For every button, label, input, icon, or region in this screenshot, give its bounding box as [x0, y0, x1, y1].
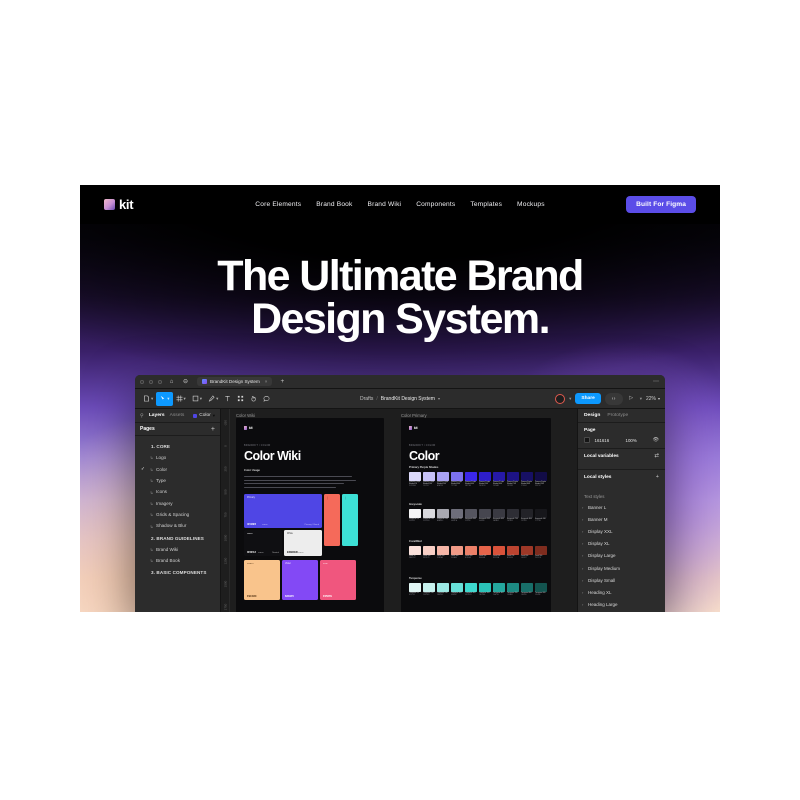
- artboard-logo: kit: [244, 426, 253, 430]
- swatch-hex: A9A2F4: [437, 486, 449, 488]
- swatch-hex: D9523A: [493, 558, 505, 560]
- page-item-type[interactable]: ↳Type: [135, 475, 220, 486]
- color-card-tag: Neutral: [272, 552, 279, 554]
- color-card-violet[interactable]: Violet8349F5: [282, 560, 318, 600]
- swatch-chip: [535, 509, 547, 518]
- color-ramp: Coral 50FBE2DCCoral 100F8CFC5Coral 200F5…: [409, 546, 547, 560]
- text-style-label: Display Large: [588, 553, 616, 558]
- share-button[interactable]: Share: [575, 393, 600, 404]
- swatch-hex: 1D1385: [507, 486, 519, 488]
- text-style-display-small[interactable]: ›Display Small: [578, 574, 665, 586]
- page-item-label: Icons: [156, 489, 167, 494]
- swatch-greyscale-100[interactable]: Greyscale 100D9D9DD: [423, 509, 435, 523]
- pages-group-1-core[interactable]: 1. CORE: [135, 440, 220, 452]
- page-root: kit Core Elements Brand Book Brand Wiki …: [0, 0, 800, 800]
- brand-logo[interactable]: kit: [104, 197, 133, 212]
- swatch-turquoise-300[interactable]: Turquoise 30068E0D7: [451, 583, 463, 597]
- local-variables-header: Local variables ⇄: [584, 454, 659, 460]
- page-fill-row[interactable]: 161616 100% 👁: [584, 437, 659, 443]
- text-style-label: Display XL: [588, 541, 610, 546]
- hero-title: The Ultimate Brand Design System.: [80, 255, 720, 341]
- swatch-chip: [423, 509, 435, 518]
- swatch-chip: [479, 583, 491, 592]
- page-item-label: Shadow & Blur: [156, 523, 186, 528]
- text-style-heading-xl[interactable]: ›Heading XL: [578, 586, 665, 598]
- swatch-chip: [437, 472, 449, 481]
- swatch-coral-red-100[interactable]: Coral 100F8CFC5: [423, 546, 435, 560]
- swatch-chip: [479, 546, 491, 555]
- swatch-coral-red-700[interactable]: Coral 700BC4430: [507, 546, 519, 560]
- move-tool[interactable]: ▾: [156, 392, 172, 406]
- page-item-label: Logo: [156, 455, 166, 460]
- nav-link-brand-wiki[interactable]: Brand Wiki: [368, 201, 402, 208]
- page-fill-hex[interactable]: 161616: [595, 438, 621, 443]
- figma-body: ⚲ Layers Assets Color ▾ Pages + 1. COR: [135, 409, 665, 612]
- avatar[interactable]: [555, 394, 565, 404]
- text-tool[interactable]: [221, 392, 234, 406]
- swatch-hex: C6F1ED: [423, 595, 435, 597]
- swatch-chip: [409, 472, 421, 481]
- color-card-name: Violet: [285, 563, 291, 565]
- close-icon[interactable]: ×: [265, 379, 268, 384]
- ruler-tick: 1000: [224, 534, 228, 543]
- breadcrumb: Drafts / BrandKit Design System ▾: [360, 396, 440, 402]
- page-icon: ↳: [150, 467, 154, 472]
- hand-tool[interactable]: [247, 392, 260, 406]
- swatch-hex: 186F69: [521, 595, 533, 597]
- ramp-label-turquoise: Turquoise: [409, 577, 422, 580]
- swatch-chip: [493, 583, 505, 592]
- swatch-chip: [465, 509, 477, 518]
- adjust-icon[interactable]: ⇄: [654, 454, 659, 460]
- page-item-imagery[interactable]: ↳Imagery: [135, 498, 220, 509]
- text-style-banner-l[interactable]: ›Banner L: [578, 501, 665, 513]
- text-style-label: Display Medium: [588, 566, 620, 571]
- play-icon[interactable]: ▷: [627, 396, 636, 401]
- color-card-hex: F0567E: [323, 595, 332, 598]
- swatch-chip: [479, 472, 491, 481]
- chevron-right-icon: ›: [582, 566, 583, 571]
- page-icon: ↳: [150, 455, 154, 460]
- zoom-level-value: 22%: [646, 396, 656, 402]
- pages-group-3-basic-components[interactable]: 3. BASIC COMPONENTS: [135, 566, 220, 578]
- artboard-eyebrow: BRANDKIT / COLOR: [409, 444, 436, 447]
- page-item-logo[interactable]: ↳Logo: [135, 452, 220, 463]
- swatch-chip: [521, 546, 533, 555]
- swatch-chip: [507, 509, 519, 518]
- swatch-chip: [451, 546, 463, 555]
- page-item-color[interactable]: ✓↳Color: [135, 463, 220, 474]
- swatch-greyscale-400[interactable]: Greyscale 40055555F: [465, 509, 477, 523]
- artboard-logo-text: kit: [249, 426, 253, 430]
- swatch-hex: 2BC3B8: [479, 595, 491, 597]
- swatch-greyscale-700[interactable]: Greyscale 7002E2E35: [507, 509, 519, 523]
- swatch-turquoise-600[interactable]: Turquoise 60024A79D: [493, 583, 505, 597]
- page-icon: ↳: [150, 524, 154, 529]
- swatch-turquoise-50[interactable]: Turquoise 50E2F7F5: [409, 583, 421, 597]
- page-color-chip[interactable]: Color ▾: [193, 413, 215, 419]
- swatch-chip: [493, 546, 505, 555]
- swatch-hex: 7E2C1E: [535, 558, 547, 560]
- text-style-label: Display XXL: [588, 529, 613, 534]
- swatch-turquoise-500[interactable]: Turquoise 5002BC3B8: [479, 583, 491, 597]
- window-minimize-dot[interactable]: [149, 380, 153, 384]
- tab-prototype[interactable]: Prototype: [607, 413, 628, 418]
- local-styles-title: Local styles: [584, 475, 611, 480]
- chevron-right-icon: ›: [582, 602, 583, 607]
- nav-link-templates[interactable]: Templates: [470, 201, 502, 208]
- zoom-level-control[interactable]: 22% ▾: [646, 396, 660, 402]
- swatch-primary-purple-shades-50[interactable]: Primary Purple Shades 50DCD9FA: [409, 472, 421, 488]
- dev-mode-toggle[interactable]: ‹›: [605, 393, 623, 405]
- page-fill-section: Page 161616 100% 👁: [578, 423, 665, 449]
- text-style-display-xxl[interactable]: ›Display XXL: [578, 525, 665, 537]
- chevron-right-icon: ›: [582, 578, 583, 583]
- swatch-primary-purple-shades-700[interactable]: Primary Purple Shades 7001D1385: [507, 472, 519, 488]
- page-item-label: Brand Wiki: [156, 547, 178, 552]
- chevron-right-icon: ›: [582, 541, 583, 546]
- swatch-greyscale-500[interactable]: Greyscale 50046464F: [479, 509, 491, 523]
- local-variables-section[interactable]: Local variables ⇄: [578, 449, 665, 470]
- swatch-primary-purple-shades-900[interactable]: Primary Purple Shades 900120C47: [535, 472, 547, 488]
- page-item-icons[interactable]: ↳Icons: [135, 486, 220, 497]
- swatch-primary-purple-shades-600[interactable]: Primary Purple Shades 6002619A8: [493, 472, 505, 488]
- breadcrumb-file-name[interactable]: BrandKit Design System: [381, 396, 435, 402]
- artboard-color-primary[interactable]: kit BRANDKIT / COLOR Color Primary Purpl…: [401, 418, 551, 612]
- swatch-greyscale-50[interactable]: Greyscale 50F4F4F5: [409, 509, 421, 523]
- swatch-coral-red-900[interactable]: Coral 9007E2C1E: [535, 546, 547, 560]
- minimize-icon[interactable]: ⊖: [181, 379, 190, 385]
- swatch-primary-purple-shades-300[interactable]: Primary Purple Shades 3007C71EF: [451, 472, 463, 488]
- text-style-display-medium[interactable]: ›Display Medium: [578, 562, 665, 574]
- text-style-label: Heading Large: [588, 602, 618, 607]
- chevron-right-icon: ›: [582, 553, 583, 558]
- page-fill-opacity[interactable]: 100%: [626, 438, 648, 443]
- swatch-chip: [437, 583, 449, 592]
- nav-link-core-elements[interactable]: Core Elements: [255, 201, 301, 208]
- page-icon: ↳: [150, 478, 154, 483]
- artboard-logo: kit: [409, 426, 418, 430]
- logo-text: kit: [119, 197, 133, 212]
- swatch-chip: [535, 472, 547, 481]
- swatch-hex: 2E1ECB: [479, 486, 491, 488]
- color-card-name: White: [287, 533, 293, 535]
- artboard-logo-text: kit: [414, 426, 418, 430]
- text-style-label: Display Small: [588, 578, 615, 583]
- color-card-mark: │: [345, 497, 347, 500]
- chevron-down-icon: ▾: [184, 396, 186, 402]
- swatch-chip: [465, 472, 477, 481]
- nav-link-brand-book[interactable]: Brand Book: [316, 201, 352, 208]
- text-style-label: Heading XL: [588, 590, 612, 595]
- ruler-tick: 500: [224, 488, 228, 497]
- color-card-hex: 4F46E5: [247, 523, 256, 526]
- text-style-heading-large[interactable]: ›Heading Large: [578, 599, 665, 611]
- chevron-down-icon[interactable]: ▾: [438, 396, 440, 401]
- swatch-hex: F4F4F5: [409, 521, 421, 523]
- pages-label: Pages: [140, 426, 155, 432]
- swatch-coral-red-50[interactable]: Coral 50FBE2DC: [409, 546, 421, 560]
- page-icon: ↳: [150, 558, 154, 563]
- ruler-tick: 1250: [224, 557, 228, 566]
- swatch-hex: BC4430: [507, 558, 519, 560]
- ramp-label-coral-red: Coral/Red: [409, 540, 422, 543]
- swatch-primary-purple-shades-500[interactable]: Primary Purple Shades 5002E1ECB: [479, 472, 491, 488]
- design-panel-tabs: Design Prototype: [578, 409, 665, 423]
- color-card-name: Black: [247, 533, 253, 535]
- chevron-down-icon: ▾: [658, 396, 660, 401]
- swatch-chip: [451, 509, 463, 518]
- swatch-chip: [479, 509, 491, 518]
- chevron-right-icon: ›: [582, 590, 583, 595]
- swatch-primary-purple-shades-200[interactable]: Primary Purple Shades 200A9A2F4: [437, 472, 449, 488]
- ruler-tick: 1500: [224, 580, 228, 589]
- pen-tool[interactable]: ▾: [205, 392, 221, 406]
- figma-file-tab[interactable]: BrandKit Design System ×: [197, 377, 272, 386]
- swatch-coral-red-300[interactable]: Coral 300F09A86: [451, 546, 463, 560]
- page-fill-swatch[interactable]: [584, 437, 590, 443]
- swatch-coral-red-600[interactable]: Coral 600D9523A: [493, 546, 505, 560]
- swatch-hex: F8CFC5: [423, 558, 435, 560]
- color-card-hex: F9C48C: [247, 595, 257, 598]
- swatch-coral-red-500[interactable]: Coral 500E6644A: [479, 546, 491, 560]
- color-card-opacity: 100%: [262, 524, 268, 526]
- chevron-right-icon: ›: [582, 517, 583, 522]
- swatch-hex: 3A3A42: [493, 521, 505, 523]
- text-style-display-large[interactable]: ›Display Large: [578, 550, 665, 562]
- color-card-hex: EDEDED: [287, 551, 298, 554]
- swatch-hex: FBE2DC: [409, 558, 421, 560]
- swatch-hex: 9E3827: [521, 558, 533, 560]
- search-icon[interactable]: ⚲: [140, 413, 144, 419]
- swatch-chip: [423, 472, 435, 481]
- vertical-ruler: -25002505007501000125015001750: [221, 409, 230, 612]
- swatch-chip: [465, 546, 477, 555]
- swatch-coral-red-400[interactable]: Coral 400EC8068: [465, 546, 477, 560]
- swatch-turquoise-800[interactable]: Turquoise 800186F69: [521, 583, 533, 597]
- text-style-display-xl[interactable]: ›Display XL: [578, 538, 665, 550]
- window-zoom-dot[interactable]: [158, 380, 162, 384]
- breadcrumb-root[interactable]: Drafts: [360, 396, 373, 402]
- main-menu-tool[interactable]: ▾: [140, 392, 156, 406]
- chevron-down-icon: ▾: [200, 396, 202, 402]
- tab-layers[interactable]: Layers: [149, 413, 165, 418]
- add-page-button[interactable]: +: [211, 426, 215, 433]
- swatch-hex: 232328: [521, 521, 533, 523]
- color-card-opacity: 100%: [258, 552, 264, 554]
- page-icon: ↳: [150, 501, 154, 506]
- eye-icon[interactable]: 👁: [653, 437, 659, 443]
- figma-titlebar: ⌂ ⊖ BrandKit Design System × + ⋯: [135, 375, 665, 389]
- swatch-chip: [451, 583, 463, 592]
- ruler-tick: -250: [224, 419, 228, 428]
- swatch-chip: [493, 472, 505, 481]
- color-ramp: Greyscale 50F4F4F5Greyscale 100D9D9DDGre…: [409, 509, 547, 523]
- swatch-chip: [535, 546, 547, 555]
- hero-title-line-1: The Ultimate Brand: [217, 252, 582, 300]
- color-card-mark: │: [327, 497, 329, 500]
- page-item-brand-wiki[interactable]: ↳Brand Wiki: [135, 544, 220, 555]
- swatch-hex: C6C1F7: [423, 486, 435, 488]
- page-item-shadow-blur[interactable]: ↳Shadow & Blur: [135, 520, 220, 531]
- artboard-color-wiki[interactable]: kit BRANDKIT / COLOR Color Wiki Color Us…: [236, 418, 384, 612]
- logo-mark-icon: [104, 199, 115, 210]
- swatch-hex: 7C71EF: [451, 486, 463, 488]
- color-card-pink[interactable]: PinkF0567E: [320, 560, 356, 600]
- ruler-tick: 750: [224, 511, 228, 520]
- swatch-chip: [437, 546, 449, 555]
- logo-mark-icon: [244, 426, 247, 429]
- swatch-hex: 6E6E7A: [451, 521, 463, 523]
- nav-link-components[interactable]: Components: [416, 201, 455, 208]
- home-icon[interactable]: ⌂: [167, 379, 176, 385]
- color-card-primary[interactable]: Primary4F46E5100%Primary / Brand: [244, 494, 322, 528]
- figma-toolbar: ▾ ▾ ▾ ▾ ▾: [135, 389, 665, 409]
- chevron-down-icon: ▾: [151, 396, 153, 402]
- swatch-hex: 9BE9E3: [437, 595, 449, 597]
- shape-tool[interactable]: ▾: [189, 392, 205, 406]
- chevron-down-icon[interactable]: ▾: [640, 396, 642, 402]
- chevron-down-icon: ▾: [167, 396, 169, 402]
- comment-tool[interactable]: [260, 392, 273, 406]
- swatch-turquoise-900[interactable]: Turquoise 90013544F: [535, 583, 547, 597]
- swatch-chip: [507, 472, 519, 481]
- artboard-title: Color Wiki: [244, 449, 301, 463]
- local-styles-section: Local styles +: [578, 470, 665, 490]
- nav-link-mockups[interactable]: Mockups: [517, 201, 545, 208]
- figma-window-mockup: ⌂ ⊖ BrandKit Design System × + ⋯ ▾ ▾: [135, 375, 665, 612]
- design-panel: Design Prototype Page 161616 100% 👁: [577, 409, 665, 612]
- page-color-chip-label: Color: [199, 413, 210, 418]
- tab-design[interactable]: Design: [584, 413, 600, 418]
- navbar: kit Core Elements Brand Book Brand Wiki …: [80, 185, 720, 224]
- swatch-chip: [409, 546, 421, 555]
- chevron-right-icon: ›: [582, 505, 583, 510]
- page-item-label: Brand Book: [156, 558, 180, 563]
- color-card-black[interactable]: Black0F0F12100%Neutral: [244, 530, 282, 556]
- page-section-header: Page: [584, 428, 659, 433]
- ramp-label-greyscale: Greyscale: [409, 503, 422, 506]
- swatch-hex: 171064: [521, 486, 533, 488]
- text-style-label: Banner L: [588, 505, 606, 510]
- color-card-opacity: 100%: [298, 552, 304, 554]
- color-card-name: Primary: [247, 497, 255, 499]
- hero-section: kit Core Elements Brand Book Brand Wiki …: [80, 185, 720, 612]
- figma-file-icon: [202, 379, 207, 384]
- color-card-turquoise[interactable]: │: [342, 494, 358, 546]
- color-card-white[interactable]: WhiteEDEDED100%: [284, 530, 322, 556]
- new-tab-button[interactable]: +: [280, 378, 284, 385]
- swatch-chip: [507, 583, 519, 592]
- swatch-greyscale-800[interactable]: Greyscale 800232328: [521, 509, 533, 523]
- add-style-button[interactable]: +: [656, 475, 659, 481]
- swatch-chip: [507, 546, 519, 555]
- page-item-label: Color: [156, 467, 167, 472]
- swatch-turquoise-400[interactable]: Turquoise 4003DD8CD: [465, 583, 477, 597]
- swatch-coral-red-200[interactable]: Coral 200F5B5A6: [437, 546, 449, 560]
- ramp-label-primary-purple-shades: Primary Purple Shades: [409, 466, 438, 469]
- page-icon: ↳: [150, 547, 154, 552]
- swatch-primary-purple-shades-400[interactable]: Primary Purple Shades 4003B27E8: [465, 472, 477, 488]
- swatch-chip: [409, 583, 421, 592]
- swatch-hex: 1D8A82: [507, 595, 519, 597]
- window-close-dot[interactable]: [140, 380, 144, 384]
- swatch-hex: 17171B: [535, 521, 547, 523]
- swatch-chip: [437, 509, 449, 518]
- text-styles-label: Text styles: [578, 489, 665, 501]
- page-item-brand-book[interactable]: ↳Brand Book: [135, 555, 220, 566]
- swatch-hex: E2F7F5: [409, 595, 421, 597]
- swatch-hex: E6644A: [479, 558, 491, 560]
- swatch-chip: [521, 583, 533, 592]
- swatch-turquoise-200[interactable]: Turquoise 2009BE9E3: [437, 583, 449, 597]
- page-item-grids-spacing[interactable]: ↳Grids & Spacing: [135, 509, 220, 520]
- swatch-primary-purple-shades-100[interactable]: Primary Purple Shades 100C6C1F7: [423, 472, 435, 488]
- color-card-name: Peach: [247, 563, 254, 565]
- swatch-hex: EC8068: [465, 558, 477, 560]
- swatch-greyscale-200[interactable]: Greyscale 200A8A8B0: [437, 509, 449, 523]
- swatch-chip: [521, 472, 533, 481]
- color-card-hex: 0F0F12: [247, 551, 256, 554]
- color-card-tag: Primary / Brand: [305, 524, 319, 526]
- text-style-banner-m[interactable]: ›Banner M: [578, 513, 665, 525]
- pages-group-2-brand-guidelines[interactable]: 2. BRAND GUIDELINES: [135, 532, 220, 544]
- page-item-label: Type: [156, 478, 166, 483]
- swatch-primary-purple-shades-800[interactable]: Primary Purple Shades 800171064: [521, 472, 533, 488]
- swatch-hex: F09A86: [451, 558, 463, 560]
- swatch-turquoise-100[interactable]: Turquoise 100C6F1ED: [423, 583, 435, 597]
- chevron-right-icon: ›: [582, 529, 583, 534]
- swatch-chip: [493, 509, 505, 518]
- built-for-figma-button[interactable]: Built For Figma: [626, 196, 696, 213]
- figma-file-tab-label: BrandKit Design System: [210, 379, 260, 384]
- color-card-coral[interactable]: │: [324, 494, 340, 546]
- local-styles-header: Local styles +: [584, 475, 659, 481]
- swatch-greyscale-600[interactable]: Greyscale 6003A3A42: [493, 509, 505, 523]
- more-options-icon[interactable]: ⋯: [653, 378, 659, 385]
- text-styles-list: ›Banner L›Banner M›Display XXL›Display X…: [578, 501, 665, 611]
- page-icon: ↳: [150, 490, 154, 495]
- swatch-hex: F5B5A6: [437, 558, 449, 560]
- ruler-tick: 1750: [224, 603, 228, 612]
- swatch-turquoise-700[interactable]: Turquoise 7001D8A82: [507, 583, 519, 597]
- color-card-peach[interactable]: PeachF9C48C: [244, 560, 280, 600]
- swatch-greyscale-900[interactable]: Greyscale 90017171B: [535, 509, 547, 523]
- swatch-hex: DCD9FA: [409, 486, 421, 488]
- swatch-greyscale-300[interactable]: Greyscale 3006E6E7A: [451, 509, 463, 523]
- nav-links: Core Elements Brand Book Brand Wiki Comp…: [255, 201, 544, 208]
- swatch-chip: [465, 583, 477, 592]
- swatch-coral-red-800[interactable]: Coral 8009E3827: [521, 546, 533, 560]
- swatch-chip: [451, 472, 463, 481]
- chevron-down-icon[interactable]: ▾: [569, 396, 571, 402]
- chevron-down-icon: ▾: [213, 413, 215, 419]
- color-card-hex: 8349F5: [285, 595, 294, 598]
- color-ramp: Turquoise 50E2F7F5Turquoise 100C6F1EDTur…: [409, 583, 547, 597]
- figma-canvas[interactable]: -25002505007501000125015001750 Color Wik…: [221, 409, 577, 612]
- frame-tool[interactable]: ▾: [173, 392, 189, 406]
- tab-assets[interactable]: Assets: [170, 413, 185, 418]
- swatch-chip: [423, 546, 435, 555]
- hero-title-line-2: Design System.: [80, 298, 720, 341]
- page-icon: ↳: [150, 512, 154, 517]
- local-variables-title: Local variables: [584, 454, 619, 459]
- layers-panel: ⚲ Layers Assets Color ▾ Pages + 1. COR: [135, 409, 221, 612]
- swatch-hex: 3DD8CD: [465, 595, 477, 597]
- components-tool[interactable]: [234, 392, 247, 406]
- swatch-hex: 3B27E8: [465, 486, 477, 488]
- artboard-title: Color: [409, 449, 439, 463]
